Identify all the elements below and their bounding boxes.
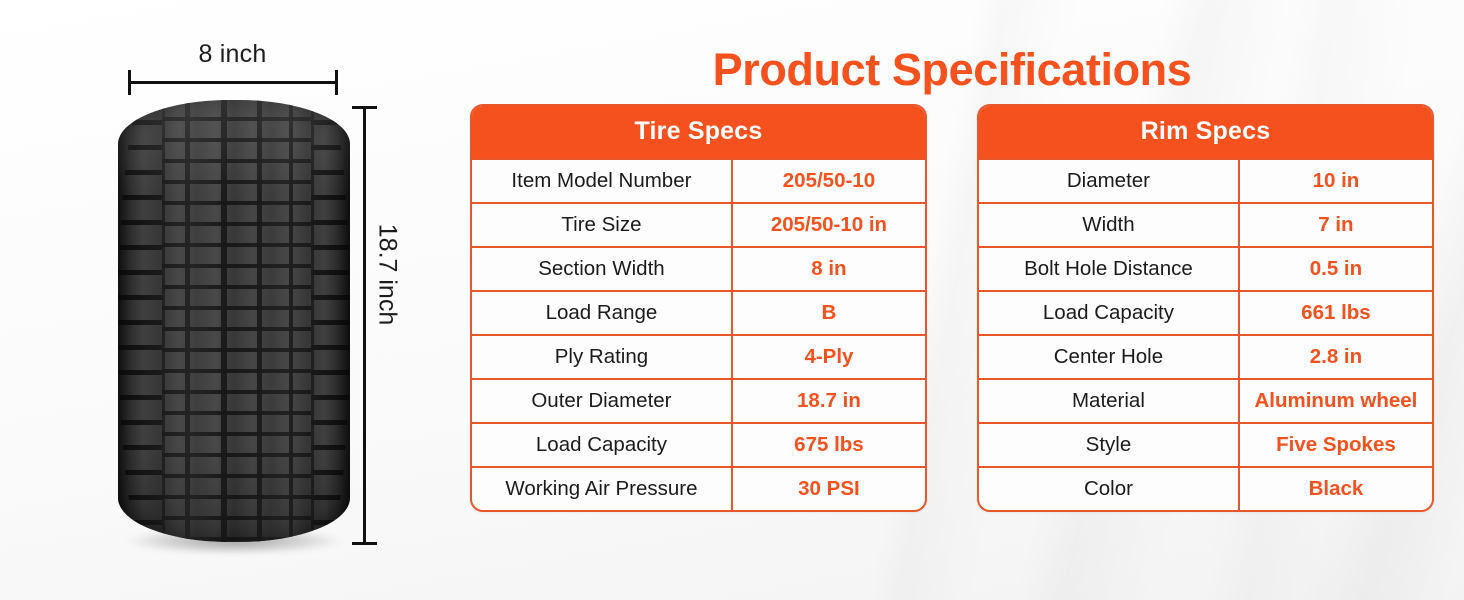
table-row: Item Model Number 205/50-10	[472, 158, 925, 202]
height-dimension-label: 18.7 inch	[373, 195, 402, 355]
table-row: Outer Diameter 18.7 in	[472, 378, 925, 422]
spec-value: 10 in	[1240, 160, 1432, 202]
spec-value: 0.5 in	[1240, 248, 1432, 290]
spec-label: Color	[979, 468, 1240, 510]
spec-label: Material	[979, 380, 1240, 422]
spec-value: B	[733, 292, 925, 334]
spec-value: 7 in	[1240, 204, 1432, 246]
spec-label: Diameter	[979, 160, 1240, 202]
table-row: Material Aluminum wheel	[979, 378, 1432, 422]
spec-label: Tire Size	[472, 204, 733, 246]
spec-label: Load Capacity	[472, 424, 733, 466]
tire-groove-1	[185, 100, 190, 542]
spec-value: 18.7 in	[733, 380, 925, 422]
product-image-pane: 8 inch 18.7 inch	[0, 0, 440, 600]
height-dimension-line	[363, 106, 366, 544]
table-row: Color Black	[979, 466, 1432, 510]
spec-label: Item Model Number	[472, 160, 733, 202]
spec-table-rim: Rim Specs Diameter 10 in Width 7 in Bolt…	[977, 104, 1434, 512]
width-dimension-cap-left	[128, 70, 131, 95]
tire-shoulder-left	[118, 100, 162, 542]
width-dimension-line	[128, 81, 338, 84]
spec-value: 205/50-10	[733, 160, 925, 202]
spec-value: 30 PSI	[733, 468, 925, 510]
table-row: Ply Rating 4-Ply	[472, 334, 925, 378]
height-dimension-cap-top	[352, 106, 377, 109]
spec-label: Section Width	[472, 248, 733, 290]
table-row: Load Range B	[472, 290, 925, 334]
table-row: Load Capacity 675 lbs	[472, 422, 925, 466]
spec-value: 2.8 in	[1240, 336, 1432, 378]
spec-value: 661 lbs	[1240, 292, 1432, 334]
spec-value: Five Spokes	[1240, 424, 1432, 466]
spec-label: Ply Rating	[472, 336, 733, 378]
table-row: Load Capacity 661 lbs	[979, 290, 1432, 334]
table-row: Section Width 8 in	[472, 246, 925, 290]
height-dimension-cap-bottom	[352, 542, 377, 545]
table-row: Working Air Pressure 30 PSI	[472, 466, 925, 510]
tire-groove-2	[221, 100, 227, 542]
spec-label: Width	[979, 204, 1240, 246]
spec-label: Style	[979, 424, 1240, 466]
tire-shoulder-right	[311, 100, 350, 542]
table-row: Style Five Spokes	[979, 422, 1432, 466]
product-spec-banner: 8 inch 18.7 inch Product Spe	[0, 0, 1464, 600]
spec-value: 675 lbs	[733, 424, 925, 466]
tire-groove-3	[257, 100, 262, 542]
spec-label: Load Range	[472, 292, 733, 334]
spec-label: Outer Diameter	[472, 380, 733, 422]
width-dimension-label: 8 inch	[125, 40, 340, 69]
spec-table-header: Tire Specs	[472, 106, 925, 158]
spec-label: Load Capacity	[979, 292, 1240, 334]
page-title: Product Specifications	[440, 44, 1464, 96]
tire-groove-4	[289, 100, 293, 542]
table-row: Center Hole 2.8 in	[979, 334, 1432, 378]
specifications-pane: Product Specifications Tire Specs Item M…	[440, 0, 1464, 600]
spec-value: 205/50-10 in	[733, 204, 925, 246]
spec-tables-container: Tire Specs Item Model Number 205/50-10 T…	[470, 104, 1434, 512]
table-row: Diameter 10 in	[979, 158, 1432, 202]
spec-value: 4-Ply	[733, 336, 925, 378]
tire-shoulder-groove-right	[311, 100, 314, 542]
spec-table-tire: Tire Specs Item Model Number 205/50-10 T…	[470, 104, 927, 512]
spec-label: Center Hole	[979, 336, 1240, 378]
table-row: Width 7 in	[979, 202, 1432, 246]
spec-label: Bolt Hole Distance	[979, 248, 1240, 290]
tire-shoulder-groove-left	[162, 100, 165, 542]
tire-tread	[118, 100, 350, 542]
spec-value: Black	[1240, 468, 1432, 510]
spec-label: Working Air Pressure	[472, 468, 733, 510]
spec-table-header: Rim Specs	[979, 106, 1432, 158]
tire-photo	[118, 100, 350, 542]
spec-value: 8 in	[733, 248, 925, 290]
table-row: Bolt Hole Distance 0.5 in	[979, 246, 1432, 290]
spec-value: Aluminum wheel	[1240, 380, 1432, 422]
table-row: Tire Size 205/50-10 in	[472, 202, 925, 246]
width-dimension-cap-right	[335, 70, 338, 95]
